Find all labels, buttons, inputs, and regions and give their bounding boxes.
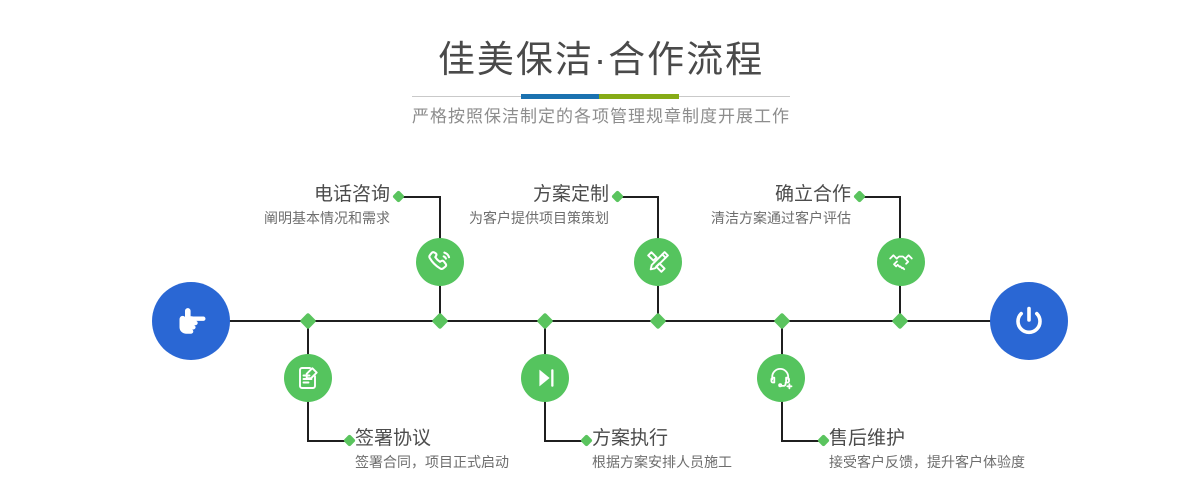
step-icon-plan-execute[interactable] [521, 354, 569, 402]
phone-call-icon [425, 247, 455, 277]
timeline-start-node[interactable] [152, 282, 230, 360]
step-subtitle-after-sales: 接受客户反馈，提升客户体验度 [829, 451, 1099, 473]
pencil-ruler-icon [643, 247, 673, 277]
step-title-after-sales: 售后维护 [829, 426, 1099, 451]
timeline-marker-plan-execute [537, 313, 554, 330]
step-subtitle-phone-consult: 阐明基本情况和需求 [150, 207, 390, 229]
page-header: 佳美保洁·合作流程 严格按照保洁制定的各项管理规章制度开展工作 [0, 0, 1202, 150]
process-timeline: 电话咨询 阐明基本情况和需求 签署协议 签署合同，项目正式启动 [0, 150, 1202, 502]
step-icon-sign-agreement[interactable] [284, 354, 332, 402]
power-icon [1007, 299, 1051, 343]
step-icon-establish-cooperation[interactable] [877, 238, 925, 286]
timeline-marker-establish-cooperation [892, 313, 909, 330]
step-icon-after-sales[interactable] [757, 354, 805, 402]
step-icon-phone-consult[interactable] [416, 238, 464, 286]
step-label-sign-agreement: 签署协议 签署合同，项目正式启动 [355, 426, 605, 473]
timeline-marker-plan-customize [650, 313, 667, 330]
page-subtitle: 严格按照保洁制定的各项管理规章制度开展工作 [0, 105, 1202, 129]
step-subtitle-plan-execute: 根据方案安排人员施工 [592, 451, 842, 473]
step-title-plan-customize: 方案定制 [370, 182, 609, 207]
step-icon-plan-customize[interactable] [634, 238, 682, 286]
customer-service-icon [766, 363, 796, 393]
step-subtitle-plan-customize: 为客户提供项目策策划 [370, 207, 609, 229]
step-subtitle-sign-agreement: 签署合同，项目正式启动 [355, 451, 605, 473]
pointing-hand-icon [169, 299, 213, 343]
connector-vline-top-establish-cooperation [899, 196, 901, 240]
connector-vline-bottom-sign-agreement [307, 398, 309, 442]
step-title-phone-consult: 电话咨询 [150, 182, 390, 207]
timeline-end-node[interactable] [990, 282, 1068, 360]
divider-segment-blue [521, 94, 599, 99]
step-title-sign-agreement: 签署协议 [355, 426, 605, 451]
timeline-marker-after-sales [774, 313, 791, 330]
connector-vline-top-plan-customize [657, 196, 659, 240]
step-label-plan-customize: 方案定制 为客户提供项目策策划 [370, 182, 609, 229]
step-label-establish-cooperation: 确立合作 清洁方案通过客户评估 [612, 182, 851, 229]
step-label-phone-consult: 电话咨询 阐明基本情况和需求 [150, 182, 390, 229]
connector-vline-bottom-plan-execute [544, 398, 546, 442]
step-subtitle-establish-cooperation: 清洁方案通过客户评估 [612, 207, 851, 229]
connector-dot-establish-cooperation [853, 190, 866, 203]
connector-dot-sign-agreement [343, 434, 356, 447]
connector-vline-top-phone-consult [439, 196, 441, 240]
connector-vline-bottom-after-sales [781, 398, 783, 442]
step-title-plan-execute: 方案执行 [592, 426, 842, 451]
step-label-after-sales: 售后维护 接受客户反馈，提升客户体验度 [829, 426, 1099, 473]
step-label-plan-execute: 方案执行 根据方案安排人员施工 [592, 426, 842, 473]
timeline-marker-phone-consult [432, 313, 449, 330]
timeline-marker-sign-agreement [300, 313, 317, 330]
document-edit-icon [293, 363, 323, 393]
page-title: 佳美保洁·合作流程 [0, 36, 1202, 83]
title-divider [412, 94, 790, 99]
divider-segment-green [599, 94, 679, 99]
step-title-establish-cooperation: 确立合作 [612, 182, 851, 207]
handshake-icon [886, 247, 916, 277]
play-execute-icon [530, 363, 560, 393]
